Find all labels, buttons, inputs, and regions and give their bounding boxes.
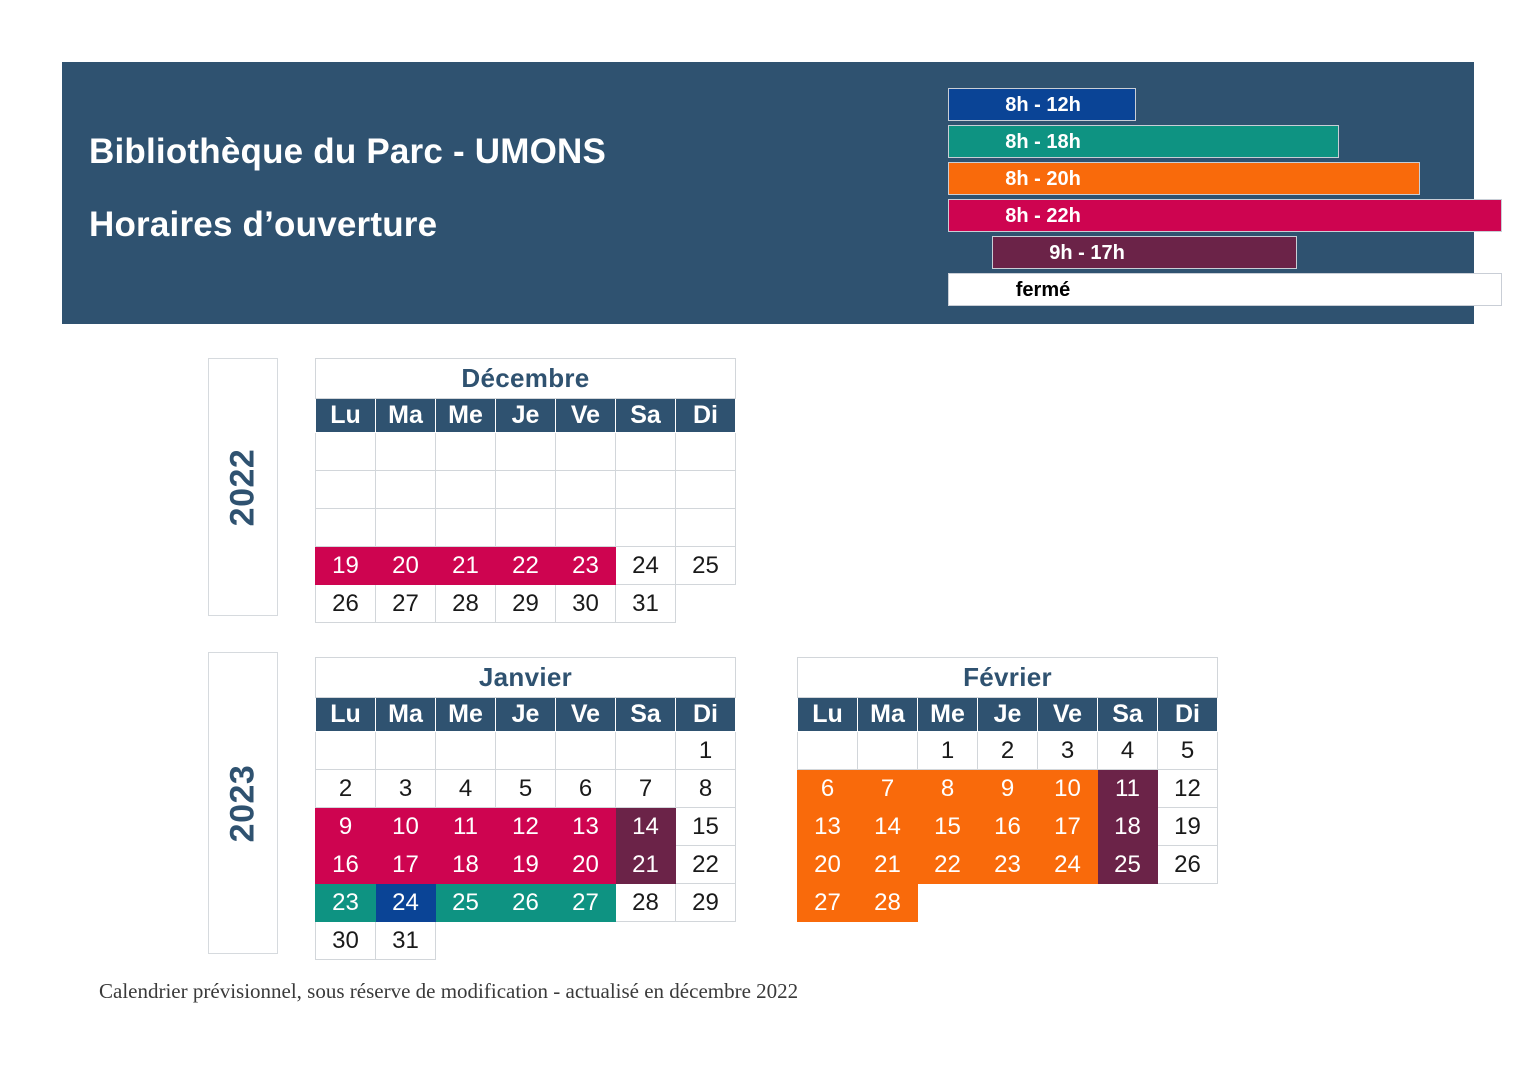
calendar-day-cell[interactable]: 25 <box>436 884 496 922</box>
opening-hours-legend: 8h - 12h 8h - 18h 8h - 20h 8h - 22h 9h -… <box>886 88 1466 306</box>
calendar-day-cell[interactable]: 17 <box>1038 808 1098 846</box>
calendar-day-cell[interactable]: 29 <box>496 585 556 623</box>
calendar-day-cell[interactable]: 24 <box>1038 846 1098 884</box>
calendar-cell-empty <box>616 433 676 471</box>
legend-item-8h-18h: 8h - 18h <box>948 125 1339 158</box>
calendar-day-cell[interactable]: 18 <box>436 846 496 884</box>
legend-item-ferme: fermé <box>948 273 1502 306</box>
weekday-header-je: Je <box>978 698 1038 732</box>
calendar-day-cell[interactable]: 19 <box>316 547 376 585</box>
calendar-cell-empty <box>436 433 496 471</box>
calendar-day-cell[interactable]: 22 <box>676 846 736 884</box>
calendar-week-row: 13141516171819 <box>798 808 1218 846</box>
weekday-header-di: Di <box>1158 698 1218 732</box>
calendar-day-cell[interactable]: 2 <box>316 770 376 808</box>
weekday-header-lu: Lu <box>316 399 376 433</box>
calendar-day-cell[interactable]: 27 <box>376 585 436 623</box>
weekday-header-ma: Ma <box>858 698 918 732</box>
weekday-header-lu: Lu <box>316 698 376 732</box>
calendar-cell-empty <box>316 471 376 509</box>
weekday-header-sa: Sa <box>616 698 676 732</box>
calendar-cell-empty <box>496 509 556 547</box>
calendar-cell-empty <box>496 471 556 509</box>
legend-label: 9h - 17h <box>993 237 1181 270</box>
calendar-fevrier: FévrierLuMaMeJeVeSaDi1234567891011121314… <box>797 657 1218 922</box>
calendar-day-cell[interactable]: 3 <box>1038 732 1098 770</box>
calendar-cell-blank <box>556 922 616 960</box>
calendar-day-cell[interactable]: 28 <box>616 884 676 922</box>
calendar-day-cell[interactable]: 8 <box>918 770 978 808</box>
calendar-cell-empty <box>316 433 376 471</box>
legend-label: 8h - 12h <box>949 89 1137 122</box>
calendar-day-cell[interactable]: 13 <box>556 808 616 846</box>
calendar-cell-empty <box>376 509 436 547</box>
month-title-row: Janvier <box>316 658 736 698</box>
page-title: Bibliothèque du Parc - UMONS <box>89 134 849 171</box>
calendar-day-cell[interactable]: 24 <box>376 884 436 922</box>
calendar-day-cell[interactable]: 2 <box>978 732 1038 770</box>
month-title-row: Février <box>798 658 1218 698</box>
calendar-cell-empty <box>556 471 616 509</box>
calendar-week-row <box>316 433 736 471</box>
calendar-cell-blank <box>496 922 556 960</box>
calendar-day-cell[interactable]: 25 <box>1098 846 1158 884</box>
calendar-day-cell[interactable]: 16 <box>978 808 1038 846</box>
calendar-day-cell[interactable]: 6 <box>556 770 616 808</box>
weekday-header-je: Je <box>496 399 556 433</box>
month-title: Janvier <box>316 658 736 698</box>
calendar-cell-empty <box>556 433 616 471</box>
calendar-day-cell[interactable]: 14 <box>616 808 676 846</box>
calendar-day-cell[interactable]: 31 <box>376 922 436 960</box>
calendar-cell-empty <box>676 471 736 509</box>
legend-label: 8h - 18h <box>949 126 1137 159</box>
calendar-day-cell[interactable]: 19 <box>1158 808 1218 846</box>
calendar-day-cell[interactable]: 11 <box>436 808 496 846</box>
calendar-day-cell[interactable]: 17 <box>376 846 436 884</box>
weekday-header-ve: Ve <box>1038 698 1098 732</box>
year-label: 2023 <box>224 764 263 842</box>
calendar-cell-blank <box>436 922 496 960</box>
calendar-week-row: 23242526272829 <box>316 884 736 922</box>
calendar-day-cell[interactable]: 22 <box>918 846 978 884</box>
calendar-cell-blank <box>1158 884 1218 922</box>
calendar-day-cell[interactable]: 14 <box>858 808 918 846</box>
weekday-header-sa: Sa <box>1098 698 1158 732</box>
calendar-decembre: DécembreLuMaMeJeVeSaDi192021222324252627… <box>315 358 736 623</box>
calendar-week-row: 2728 <box>798 884 1218 922</box>
weekday-header-ma: Ma <box>376 399 436 433</box>
calendar-cell-blank <box>978 884 1038 922</box>
calendar-day-cell[interactable]: 21 <box>436 547 496 585</box>
month-title: Février <box>798 658 1218 698</box>
weekday-header-row: LuMaMeJeVeSaDi <box>316 698 736 732</box>
calendar-week-row: 20212223242526 <box>798 846 1218 884</box>
calendar-day-cell[interactable]: 7 <box>616 770 676 808</box>
calendar-week-row: 3031 <box>316 922 736 960</box>
calendar-cell-blank <box>676 922 736 960</box>
calendar-cell-empty <box>556 509 616 547</box>
calendar-day-cell[interactable]: 7 <box>858 770 918 808</box>
calendar-day-cell[interactable]: 26 <box>316 585 376 623</box>
calendar-cell-blank <box>616 922 676 960</box>
calendar-day-cell[interactable]: 12 <box>1158 770 1218 808</box>
year-box-2023: 2023 <box>208 652 278 954</box>
calendar-week-row: 1 <box>316 732 736 770</box>
calendar-day-cell[interactable]: 26 <box>1158 846 1218 884</box>
calendar-day-cell[interactable]: 15 <box>918 808 978 846</box>
legend-label: 8h - 22h <box>949 200 1137 233</box>
calendar-cell-blank <box>1038 884 1098 922</box>
calendar-cell-empty <box>436 509 496 547</box>
calendar-week-row: 12345 <box>798 732 1218 770</box>
weekday-header-row: LuMaMeJeVeSaDi <box>798 698 1218 732</box>
legend-label: 8h - 20h <box>949 163 1137 196</box>
calendar-day-cell[interactable]: 8 <box>676 770 736 808</box>
calendar-day-cell[interactable]: 5 <box>496 770 556 808</box>
calendar-day-cell[interactable]: 30 <box>316 922 376 960</box>
calendar-cell-blank <box>676 585 736 623</box>
calendar-day-cell[interactable]: 23 <box>316 884 376 922</box>
weekday-header-ve: Ve <box>556 698 616 732</box>
weekday-header-ve: Ve <box>556 399 616 433</box>
calendar-day-cell[interactable]: 29 <box>676 884 736 922</box>
calendar-cell-empty <box>616 509 676 547</box>
calendar-day-cell[interactable]: 28 <box>436 585 496 623</box>
calendar-day-cell[interactable]: 24 <box>616 547 676 585</box>
legend-item-9h-17h: 9h - 17h <box>992 236 1297 269</box>
calendar-cell-empty <box>436 471 496 509</box>
calendar-day-cell[interactable]: 21 <box>616 846 676 884</box>
calendar-day-cell[interactable]: 3 <box>376 770 436 808</box>
footer-note: Calendrier prévisionnel, sous réserve de… <box>99 979 798 1004</box>
legend-label: fermé <box>949 274 1137 307</box>
header-banner: Bibliothèque du Parc - UMONS Horaires d’… <box>62 62 1474 324</box>
calendar-cell-empty <box>676 509 736 547</box>
calendar-day-cell[interactable]: 5 <box>1158 732 1218 770</box>
calendar-day-cell[interactable]: 9 <box>978 770 1038 808</box>
calendar-week-row: 6789101112 <box>798 770 1218 808</box>
calendar-week-row: 16171819202122 <box>316 846 736 884</box>
calendar-cell-empty <box>376 732 436 770</box>
weekday-header-di: Di <box>676 399 736 433</box>
year-label: 2022 <box>224 448 263 526</box>
calendar-cell-empty <box>798 732 858 770</box>
calendar-week-row <box>316 471 736 509</box>
weekday-header-lu: Lu <box>798 698 858 732</box>
calendar-day-cell[interactable]: 4 <box>436 770 496 808</box>
calendar-day-cell[interactable]: 27 <box>798 884 858 922</box>
weekday-header-me: Me <box>436 698 496 732</box>
calendar-cell-empty <box>858 732 918 770</box>
calendar-janvier: JanvierLuMaMeJeVeSaDi1234567891011121314… <box>315 657 736 960</box>
calendar-day-cell[interactable]: 20 <box>376 547 436 585</box>
month-title-row: Décembre <box>316 359 736 399</box>
calendar-day-cell[interactable]: 28 <box>858 884 918 922</box>
calendar-week-row: 19202122232425 <box>316 547 736 585</box>
calendar-day-cell[interactable]: 30 <box>556 585 616 623</box>
calendar-day-cell[interactable]: 16 <box>316 846 376 884</box>
calendar-day-cell[interactable]: 6 <box>798 770 858 808</box>
page-subtitle: Horaires d’ouverture <box>89 207 849 244</box>
calendar-day-cell[interactable]: 10 <box>1038 770 1098 808</box>
calendar-day-cell[interactable]: 25 <box>676 547 736 585</box>
calendar-cell-empty <box>316 509 376 547</box>
calendar-day-cell[interactable]: 23 <box>556 547 616 585</box>
calendar-cell-empty <box>436 732 496 770</box>
calendar-day-cell[interactable]: 20 <box>798 846 858 884</box>
header-title-block: Bibliothèque du Parc - UMONS Horaires d’… <box>89 134 849 244</box>
weekday-header-me: Me <box>436 399 496 433</box>
weekday-header-row: LuMaMeJeVeSaDi <box>316 399 736 433</box>
calendar-day-cell[interactable]: 20 <box>556 846 616 884</box>
calendar-day-cell[interactable]: 13 <box>798 808 858 846</box>
calendar-week-row: 2345678 <box>316 770 736 808</box>
calendar-day-cell[interactable]: 1 <box>918 732 978 770</box>
calendar-cell-empty <box>496 732 556 770</box>
calendar-day-cell[interactable]: 21 <box>858 846 918 884</box>
calendar-day-cell[interactable]: 11 <box>1098 770 1158 808</box>
calendar-cell-blank <box>918 884 978 922</box>
month-title: Décembre <box>316 359 736 399</box>
calendar-day-cell[interactable]: 27 <box>556 884 616 922</box>
legend-item-8h-22h: 8h - 22h <box>948 199 1502 232</box>
calendar-cell-empty <box>376 433 436 471</box>
calendar-day-cell[interactable]: 31 <box>616 585 676 623</box>
calendar-week-row: 9101112131415 <box>316 808 736 846</box>
calendar-day-cell[interactable]: 22 <box>496 547 556 585</box>
calendar-week-row <box>316 509 736 547</box>
weekday-header-di: Di <box>676 698 736 732</box>
weekday-header-ma: Ma <box>376 698 436 732</box>
calendar-week-row: 262728293031 <box>316 585 736 623</box>
calendar-day-cell[interactable]: 9 <box>316 808 376 846</box>
calendar-day-cell[interactable]: 1 <box>676 732 736 770</box>
calendar-cell-empty <box>376 471 436 509</box>
calendar-day-cell[interactable]: 26 <box>496 884 556 922</box>
calendar-cell-empty <box>316 732 376 770</box>
calendar-cell-empty <box>556 732 616 770</box>
calendar-day-cell[interactable]: 18 <box>1098 808 1158 846</box>
calendar-cell-empty <box>616 732 676 770</box>
calendar-cell-blank <box>1098 884 1158 922</box>
weekday-header-je: Je <box>496 698 556 732</box>
calendar-day-cell[interactable]: 23 <box>978 846 1038 884</box>
legend-item-8h-12h: 8h - 12h <box>948 88 1136 121</box>
calendar-cell-empty <box>676 433 736 471</box>
calendar-cell-empty <box>496 433 556 471</box>
weekday-header-sa: Sa <box>616 399 676 433</box>
weekday-header-me: Me <box>918 698 978 732</box>
calendar-day-cell[interactable]: 15 <box>676 808 736 846</box>
calendar-cell-empty <box>616 471 676 509</box>
calendar-day-cell[interactable]: 4 <box>1098 732 1158 770</box>
calendar-day-cell[interactable]: 12 <box>496 808 556 846</box>
year-box-2022: 2022 <box>208 358 278 616</box>
calendar-day-cell[interactable]: 10 <box>376 808 436 846</box>
legend-item-8h-20h: 8h - 20h <box>948 162 1420 195</box>
calendar-day-cell[interactable]: 19 <box>496 846 556 884</box>
